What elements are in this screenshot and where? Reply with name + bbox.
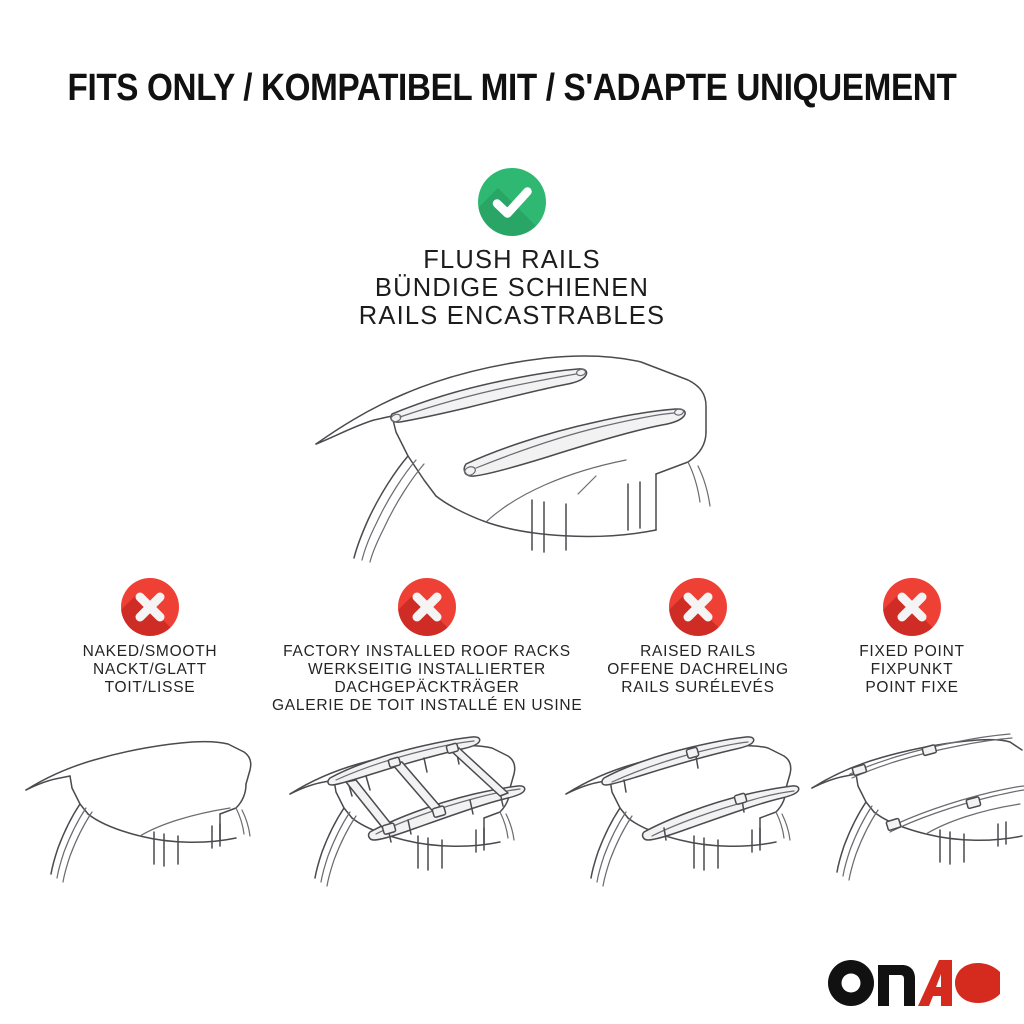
incompatible-option-naked-smooth: NAKED/SMOOTH NACKT/GLATT TOIT/LISSE (28, 578, 272, 697)
check-circle-icon (478, 168, 546, 236)
car-roof-with-flush-rails-illustration (296, 344, 748, 570)
car-roof-raised-rails-illustration (546, 716, 802, 906)
x-mark-glyph (883, 578, 941, 636)
incompatible-option-fixed-point: FIXED POINT FIXPUNKT POINT FIXE (812, 578, 1012, 697)
option-label-fr: TOIT/LISSE (28, 679, 272, 697)
omac-logo-letter-o (828, 960, 874, 1006)
compatible-label-en: FLUSH RAILS (0, 246, 1024, 274)
omac-logo (826, 960, 1002, 1006)
compatible-label-de: BÜNDIGE SCHIENEN (0, 274, 1024, 302)
x-circle-icon (398, 578, 456, 636)
option-label-de-2: DACHGEPÄCKTRÄGER (272, 679, 582, 697)
option-label-fr: GALERIE DE TOIT INSTALLÉ EN USINE (272, 697, 582, 715)
option-label-en: FIXED POINT (812, 643, 1012, 661)
car-roof-fixed-point-illustration (800, 716, 1024, 906)
incompatible-options: NAKED/SMOOTH NACKT/GLATT TOIT/LISSE FACT… (0, 578, 1024, 718)
compatible-label-fr: RAILS ENCASTRABLES (0, 302, 1024, 330)
incompatible-labels: NAKED/SMOOTH NACKT/GLATT TOIT/LISSE (28, 643, 272, 697)
incompatible-labels: FIXED POINT FIXPUNKT POINT FIXE (812, 643, 1012, 697)
option-label-fr: POINT FIXE (812, 679, 1012, 697)
check-mark-glyph (478, 168, 546, 236)
omac-logo-mark (826, 959, 1002, 1007)
omac-logo-letter-a (918, 960, 952, 1006)
x-mark-glyph (669, 578, 727, 636)
omac-logo-letter-m (878, 965, 915, 1006)
incompatible-labels: RAISED RAILS OFFENE DACHRELING RAILS SUR… (586, 643, 810, 697)
compatible-section: FLUSH RAILS BÜNDIGE SCHIENEN RAILS ENCAS… (0, 168, 1024, 330)
option-label-de: FIXPUNKT (812, 661, 1012, 679)
x-mark-glyph (398, 578, 456, 636)
option-label-de: NACKT/GLATT (28, 661, 272, 679)
option-label-fr: RAILS SURÉLEVÉS (586, 679, 810, 697)
page-title: FITS ONLY / KOMPATIBEL MIT / S'ADAPTE UN… (0, 66, 1024, 110)
incompatible-option-raised-rails: RAISED RAILS OFFENE DACHRELING RAILS SUR… (586, 578, 810, 697)
x-circle-icon (121, 578, 179, 636)
x-circle-icon (669, 578, 727, 636)
compatible-labels: FLUSH RAILS BÜNDIGE SCHIENEN RAILS ENCAS… (0, 246, 1024, 330)
option-label-en: NAKED/SMOOTH (28, 643, 272, 661)
x-circle-icon (883, 578, 941, 636)
car-roof-factory-installed-roof-racks-illustration (274, 716, 530, 906)
incompatible-option-factory-roof-racks: FACTORY INSTALLED ROOF RACKS WERKSEITIG … (272, 578, 582, 715)
option-label-en: FACTORY INSTALLED ROOF RACKS (272, 643, 582, 661)
omac-logo-letter-c (955, 963, 1000, 1003)
option-label-de: OFFENE DACHRELING (586, 661, 810, 679)
incompatible-labels: FACTORY INSTALLED ROOF RACKS WERKSEITIG … (272, 643, 582, 715)
option-label-en: RAISED RAILS (586, 643, 810, 661)
car-roof-naked-smooth-illustration (8, 716, 264, 906)
option-label-de-1: WERKSEITIG INSTALLIERTER (272, 661, 582, 679)
page-title-text: FITS ONLY / KOMPATIBEL MIT / S'ADAPTE UN… (68, 66, 957, 110)
roof-illustrations-row (0, 716, 1024, 916)
x-mark-glyph (121, 578, 179, 636)
